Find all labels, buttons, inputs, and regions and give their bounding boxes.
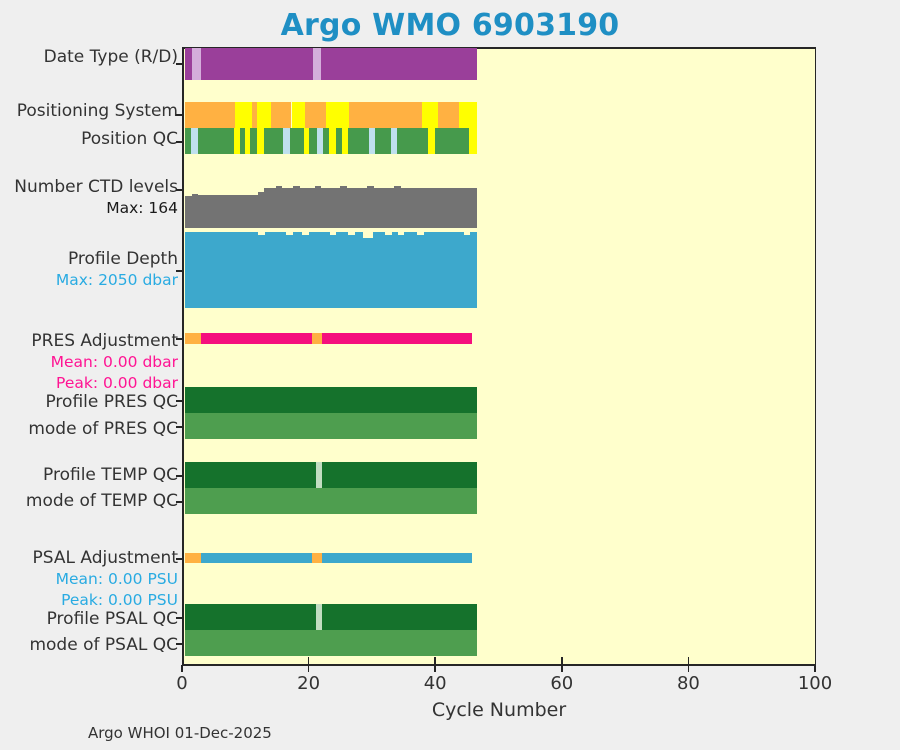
track-bar bbox=[309, 232, 330, 308]
y-tick-mode_psal_qc bbox=[176, 643, 183, 645]
track-bar bbox=[424, 232, 464, 308]
x-tick-label-40: 40 bbox=[424, 673, 447, 694]
x-tick-label-20: 20 bbox=[297, 673, 320, 694]
track-date_type bbox=[182, 48, 815, 80]
track-segment bbox=[185, 48, 193, 80]
track-segment bbox=[322, 604, 477, 630]
track-mode_psal_qc bbox=[182, 630, 815, 656]
track-segment bbox=[422, 102, 438, 128]
axis-bottom-spine bbox=[182, 664, 816, 666]
track-segment bbox=[305, 102, 325, 128]
track-segment bbox=[322, 333, 472, 344]
x-tick-inner-20 bbox=[308, 657, 310, 665]
track-segment bbox=[185, 488, 477, 514]
x-tick-inner-40 bbox=[434, 657, 436, 665]
track-bar bbox=[363, 238, 372, 308]
track-bar bbox=[293, 232, 302, 308]
y-tick-pres_adjustment bbox=[176, 338, 183, 340]
track-bar bbox=[185, 232, 258, 308]
x-tick-20 bbox=[308, 665, 310, 672]
track-segment bbox=[257, 128, 264, 154]
x-tick-80 bbox=[688, 665, 690, 672]
y-tick-ctd_levels bbox=[176, 189, 183, 191]
y-label-profile_psal_qc: Profile PSAL QC bbox=[47, 609, 178, 630]
track-profile_pres_qc bbox=[182, 387, 815, 413]
track-segment bbox=[185, 102, 236, 128]
track-segment bbox=[438, 102, 459, 128]
track-bar bbox=[401, 188, 477, 228]
track-bar bbox=[198, 195, 258, 228]
track-bar bbox=[336, 232, 347, 308]
y-label-position_qc: Position QC bbox=[81, 129, 178, 150]
track-bar bbox=[355, 232, 363, 308]
track-segment bbox=[185, 553, 201, 563]
y-tick-positioning_system bbox=[176, 114, 183, 116]
y-label-positioning_system: Positioning System bbox=[17, 101, 178, 122]
track-bar bbox=[264, 188, 276, 228]
track-segment bbox=[348, 128, 369, 154]
y-label-profile_pres_qc: Profile PRES QC bbox=[45, 392, 178, 413]
track-bar bbox=[394, 186, 401, 228]
y-tick-mode_pres_qc bbox=[176, 426, 183, 428]
y-tick-mode_temp_qc bbox=[176, 501, 183, 503]
y-tick-profile_depth bbox=[176, 270, 183, 272]
y-label-psal_adjustment: PSAL Adjustment bbox=[33, 548, 178, 569]
track-bar bbox=[185, 196, 193, 228]
track-segment bbox=[250, 128, 258, 154]
x-tick-100 bbox=[814, 665, 816, 672]
track-segment bbox=[321, 48, 477, 80]
y-tick-profile_pres_qc bbox=[176, 400, 183, 402]
y-label-pres_adjustment: PRES Adjustment bbox=[31, 331, 178, 352]
track-positioning_system bbox=[182, 102, 815, 128]
track-segment bbox=[322, 553, 472, 563]
y-sublabel-ctd_levels-0: Max: 164 bbox=[106, 198, 178, 219]
x-tick-label-80: 80 bbox=[677, 673, 700, 694]
track-segment bbox=[185, 128, 192, 154]
track-segment bbox=[349, 102, 422, 128]
track-segment bbox=[185, 462, 317, 488]
track-segment bbox=[264, 128, 283, 154]
track-segment bbox=[235, 102, 252, 128]
track-segment bbox=[322, 462, 477, 488]
track-segment bbox=[459, 102, 477, 128]
track-bar bbox=[286, 235, 293, 308]
track-pres_adjustment bbox=[182, 333, 815, 344]
track-bar bbox=[293, 186, 300, 228]
track-segment bbox=[290, 128, 304, 154]
y-label-profile_depth: Profile Depth bbox=[68, 249, 178, 270]
track-segment bbox=[309, 128, 318, 154]
figure-canvas: Argo WMO 6903190 Date Type (R/D)Position… bbox=[0, 0, 900, 750]
track-bar bbox=[347, 188, 368, 228]
y-label-ctd_levels: Number CTD levels bbox=[14, 177, 178, 198]
track-profile_depth bbox=[182, 232, 815, 308]
y-label-date_type: Date Type (R/D) bbox=[44, 47, 178, 68]
track-bar bbox=[385, 235, 392, 308]
track-bar bbox=[373, 232, 386, 308]
track-segment bbox=[185, 413, 477, 439]
y-sublabel-psal_adjustment-0: Mean: 0.00 PSU bbox=[56, 569, 178, 590]
track-profile_psal_qc bbox=[182, 604, 815, 630]
track-segment bbox=[257, 102, 270, 128]
y-sublabel-psal_adjustment-1: Peak: 0.00 PSU bbox=[61, 590, 178, 611]
track-bar bbox=[374, 188, 394, 228]
y-sublabel-profile_depth-0: Max: 2050 dbar bbox=[56, 270, 178, 291]
track-segment bbox=[185, 333, 201, 344]
track-segment bbox=[326, 102, 349, 128]
track-bar bbox=[302, 235, 309, 308]
y-sublabel-pres_adjustment-0: Mean: 0.00 dbar bbox=[51, 352, 178, 373]
y-sublabel-pres_adjustment-1: Peak: 0.00 dbar bbox=[56, 373, 178, 394]
y-label-mode_pres_qc: mode of PRES QC bbox=[28, 419, 178, 440]
x-tick-0 bbox=[181, 665, 183, 672]
x-tick-inner-60 bbox=[561, 657, 563, 665]
track-segment bbox=[185, 387, 477, 413]
x-tick-60 bbox=[561, 665, 563, 672]
track-bar bbox=[258, 235, 265, 308]
track-segment bbox=[201, 553, 312, 563]
track-bar bbox=[265, 232, 287, 308]
track-segment bbox=[375, 128, 391, 154]
track-segment bbox=[469, 128, 477, 154]
y-tick-profile_temp_qc bbox=[176, 475, 183, 477]
track-bar bbox=[300, 188, 315, 228]
track-segment bbox=[198, 128, 234, 154]
track-mode_temp_qc bbox=[182, 488, 815, 514]
track-bar bbox=[404, 232, 417, 308]
track-segment bbox=[312, 553, 321, 563]
track-segment bbox=[201, 48, 313, 80]
y-label-mode_temp_qc: mode of TEMP QC bbox=[26, 491, 178, 512]
y-tick-position_qc bbox=[176, 141, 183, 143]
track-mode_pres_qc bbox=[182, 413, 815, 439]
track-bar bbox=[282, 188, 293, 228]
track-segment bbox=[428, 128, 436, 154]
x-tick-40 bbox=[434, 665, 436, 672]
track-segment bbox=[185, 604, 317, 630]
track-segment bbox=[292, 102, 306, 128]
track-bar bbox=[321, 188, 340, 228]
track-ctd_levels bbox=[182, 182, 815, 228]
track-segment bbox=[192, 48, 201, 80]
y-label-mode_psal_qc: mode of PSAL QC bbox=[29, 635, 178, 656]
y-tick-profile_psal_qc bbox=[176, 617, 183, 619]
x-tick-label-0: 0 bbox=[176, 673, 187, 694]
x-tick-inner-80 bbox=[688, 657, 690, 665]
track-segment bbox=[271, 102, 292, 128]
footer-credit: Argo WHOI 01-Dec-2025 bbox=[88, 724, 272, 742]
track-bar bbox=[348, 235, 355, 308]
page-title: Argo WMO 6903190 bbox=[0, 8, 900, 43]
track-psal_adjustment bbox=[182, 553, 815, 563]
y-tick-psal_adjustment bbox=[176, 558, 183, 560]
track-bar bbox=[470, 232, 477, 308]
track-position_qc bbox=[182, 128, 815, 154]
track-segment bbox=[323, 128, 330, 154]
y-tick-date_type bbox=[176, 63, 183, 65]
x-axis-title: Cycle Number bbox=[182, 699, 816, 721]
track-segment bbox=[397, 128, 427, 154]
y-label-profile_temp_qc: Profile TEMP QC bbox=[43, 465, 178, 486]
track-segment bbox=[312, 333, 321, 344]
x-tick-label-60: 60 bbox=[550, 673, 573, 694]
x-tick-label-100: 100 bbox=[798, 673, 832, 694]
track-segment bbox=[185, 630, 477, 656]
track-segment bbox=[435, 128, 469, 154]
track-profile_temp_qc bbox=[182, 462, 815, 488]
track-segment bbox=[313, 48, 321, 80]
track-segment bbox=[201, 333, 312, 344]
